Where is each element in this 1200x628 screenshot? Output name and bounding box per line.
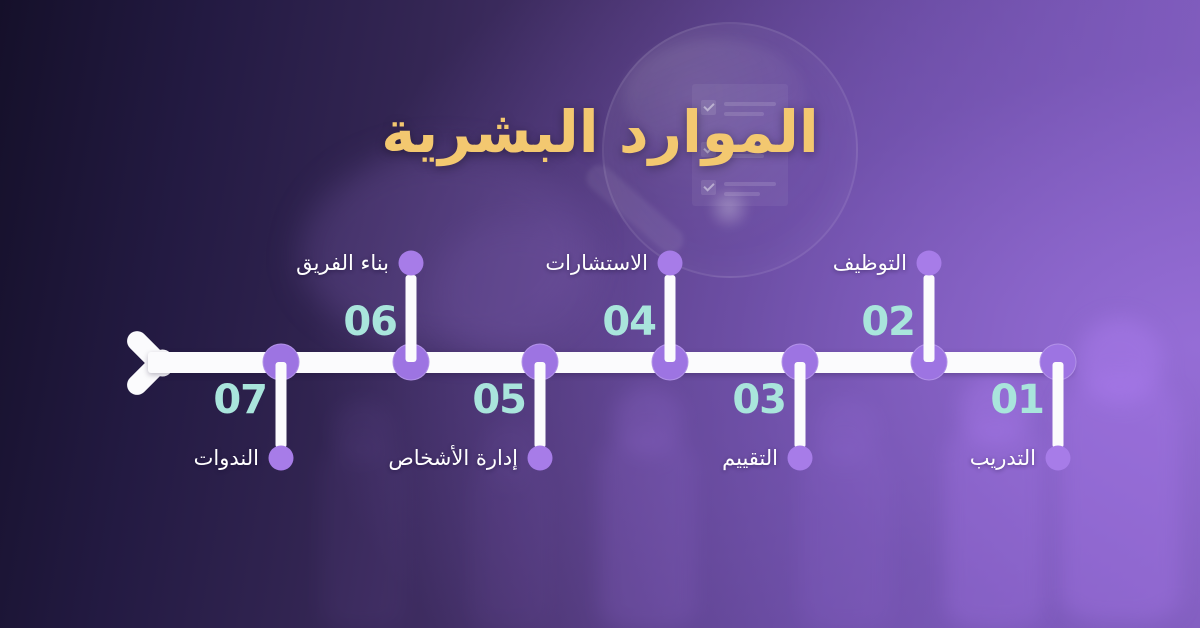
timeline-step-number: 02 (861, 299, 915, 345)
timeline-step-number: 03 (732, 377, 786, 423)
timeline-endpoint-dot[interactable] (269, 446, 294, 471)
timeline-endpoint-dot[interactable] (917, 251, 942, 276)
timeline-step-number: 07 (213, 377, 267, 423)
timeline-connector-stem (795, 362, 806, 448)
timeline-step-label: التقييم (722, 446, 778, 470)
timeline-connector-stem (665, 275, 676, 362)
timeline-step-label: التوظيف (833, 251, 907, 275)
timeline-step-label: إدارة الأشخاص (388, 446, 518, 470)
timeline-endpoint-dot[interactable] (658, 251, 683, 276)
timeline: 01التدريب02التوظيف03التقييم04الاستشارات0… (0, 0, 1200, 628)
timeline-step-number: 04 (602, 299, 656, 345)
timeline-step-label: الندوات (194, 446, 259, 470)
page-title: الموارد البشرية (0, 98, 1200, 166)
timeline-endpoint-dot[interactable] (528, 446, 553, 471)
timeline-step-number: 01 (990, 377, 1044, 423)
timeline-connector-stem (924, 275, 935, 362)
timeline-connector-stem (406, 275, 417, 362)
timeline-endpoint-dot[interactable] (788, 446, 813, 471)
timeline-connector-stem (535, 362, 546, 448)
timeline-step-label: بناء الفريق (296, 251, 389, 275)
timeline-connector-stem (276, 362, 287, 448)
timeline-connector-stem (1053, 362, 1064, 448)
timeline-step-label: التدريب (970, 446, 1036, 470)
timeline-step-label: الاستشارات (545, 251, 648, 275)
infographic-canvas: الموارد البشرية 01التدريب02التوظيف03التق… (0, 0, 1200, 628)
timeline-step-number: 06 (343, 299, 397, 345)
timeline-endpoint-dot[interactable] (399, 251, 424, 276)
timeline-step-number: 05 (472, 377, 526, 423)
timeline-endpoint-dot[interactable] (1046, 446, 1071, 471)
